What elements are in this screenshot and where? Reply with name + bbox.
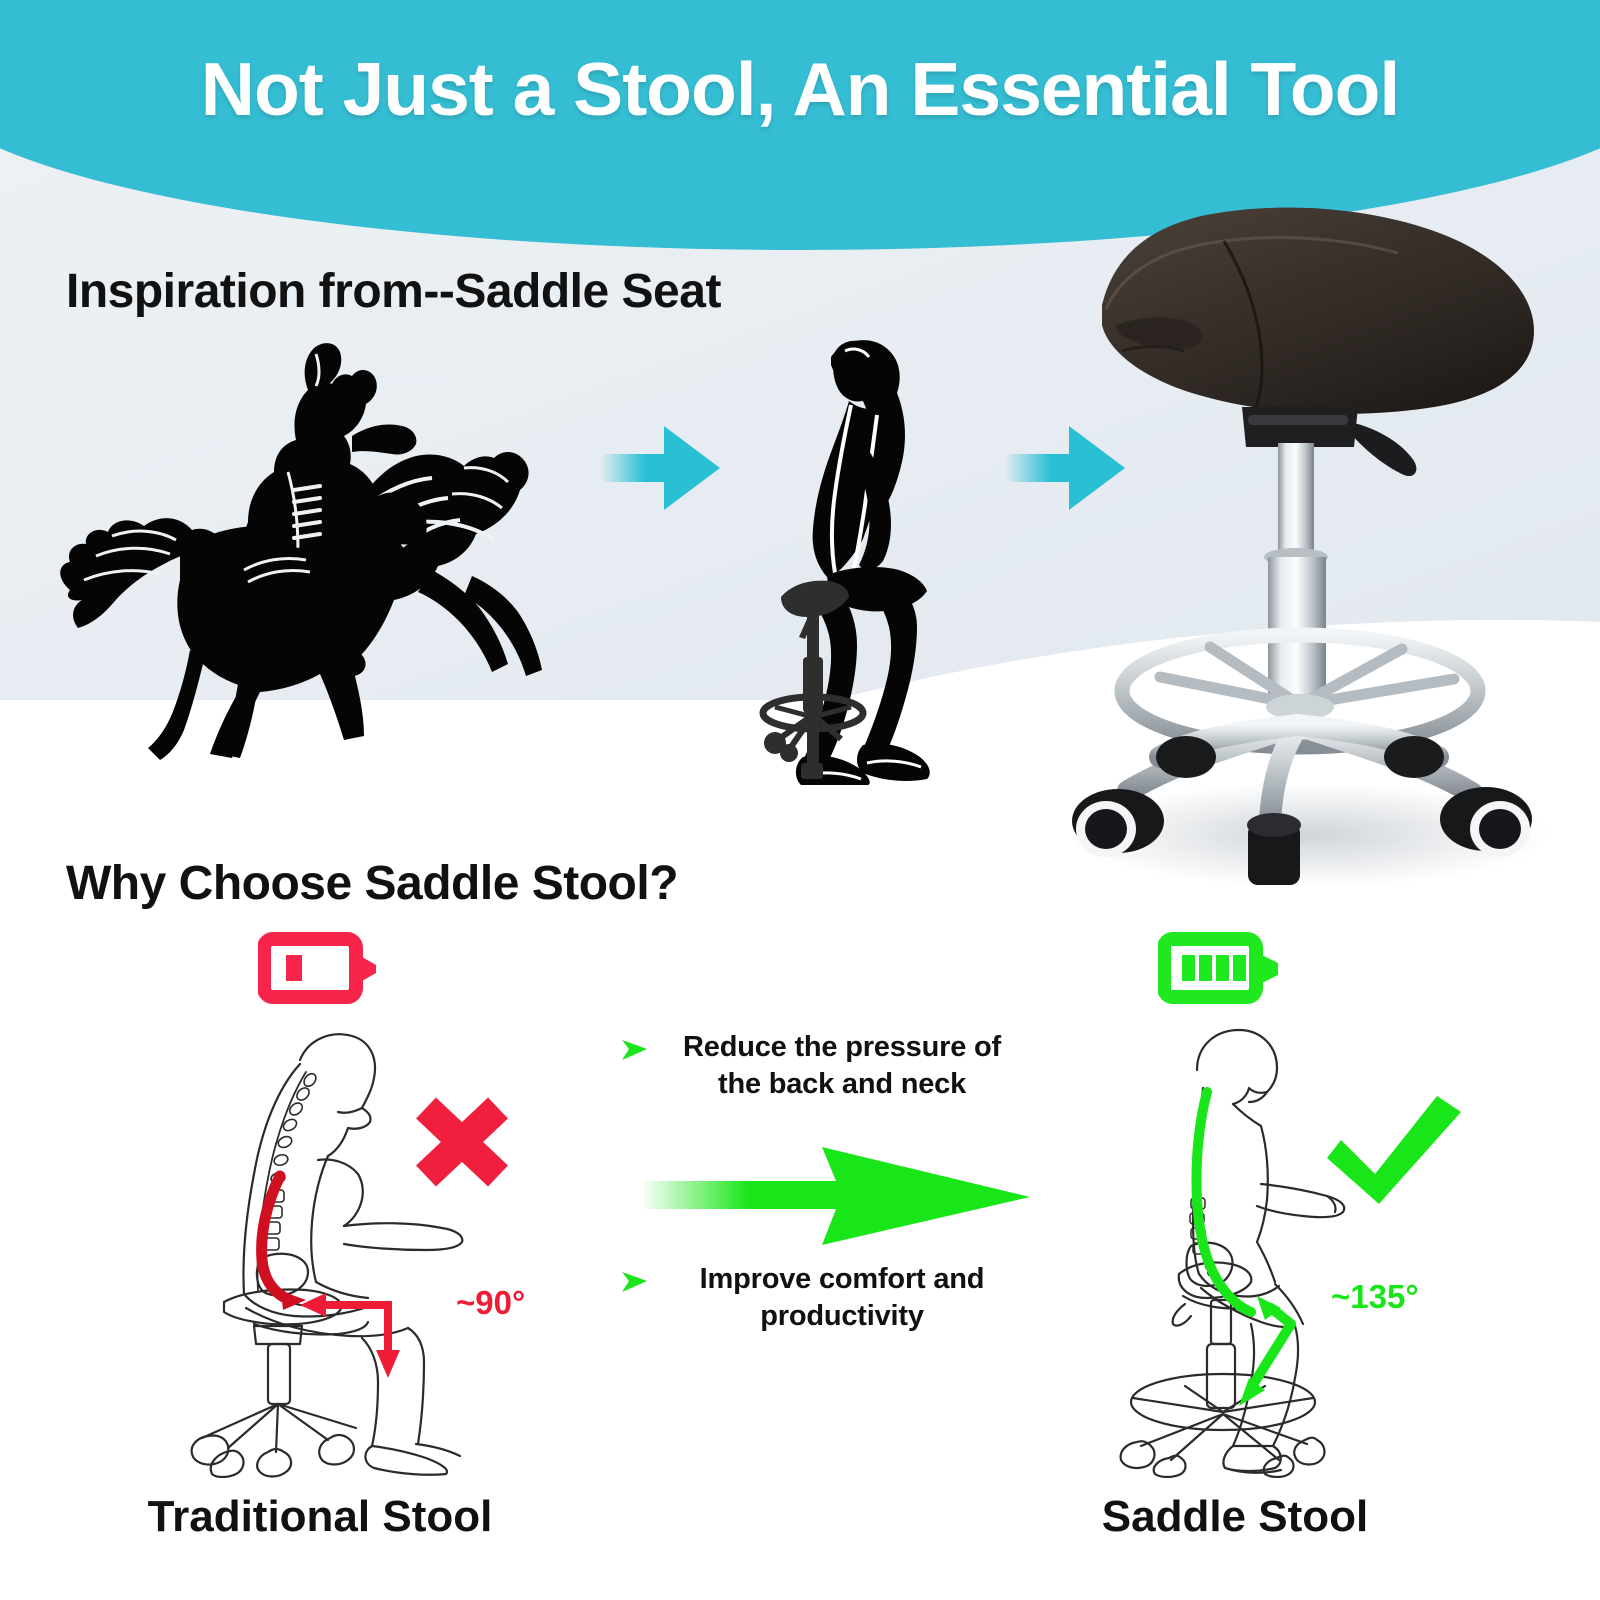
benefits-column: Reduce the pressure of the back and neck… bbox=[620, 1015, 1020, 1435]
saddle-stool-product-image bbox=[1010, 185, 1590, 905]
arrow-right-icon-1 bbox=[600, 418, 720, 518]
seated-woman-icon bbox=[745, 335, 990, 785]
saddle-stool-posture-diagram: ~135° bbox=[1075, 1008, 1505, 1478]
caption-traditional-stool: Traditional Stool bbox=[60, 1492, 580, 1542]
comparison-heading: Why Choose Saddle Stool? bbox=[66, 856, 678, 911]
traditional-stool-posture-diagram: ~90° bbox=[150, 1008, 580, 1478]
benefit-item-2: Improve comfort and productivity bbox=[620, 1261, 1020, 1335]
battery-low-icon bbox=[258, 925, 378, 1011]
infographic-canvas: Not Just a Stool, An Essential Tool Insp… bbox=[0, 0, 1600, 1600]
benefit-text-2: Improve comfort and productivity bbox=[664, 1261, 1020, 1335]
bullet-arrow-icon-1 bbox=[620, 1035, 650, 1065]
horseback-rider-icon bbox=[52, 340, 572, 770]
inspiration-heading: Inspiration from--Saddle Seat bbox=[66, 264, 721, 319]
benefit-text-1: Reduce the pressure of the back and neck bbox=[664, 1029, 1020, 1103]
page-title: Not Just a Stool, An Essential Tool bbox=[0, 52, 1600, 127]
transition-arrow-icon bbox=[640, 1135, 1030, 1255]
bullet-arrow-icon-2 bbox=[620, 1267, 650, 1297]
benefit-item-1: Reduce the pressure of the back and neck bbox=[620, 1029, 1020, 1103]
battery-full-icon bbox=[1158, 925, 1278, 1011]
caption-saddle-stool: Saddle Stool bbox=[1010, 1492, 1460, 1542]
angle-label-traditional: ~90° bbox=[456, 1284, 525, 1321]
angle-label-saddle: ~135° bbox=[1331, 1278, 1419, 1315]
